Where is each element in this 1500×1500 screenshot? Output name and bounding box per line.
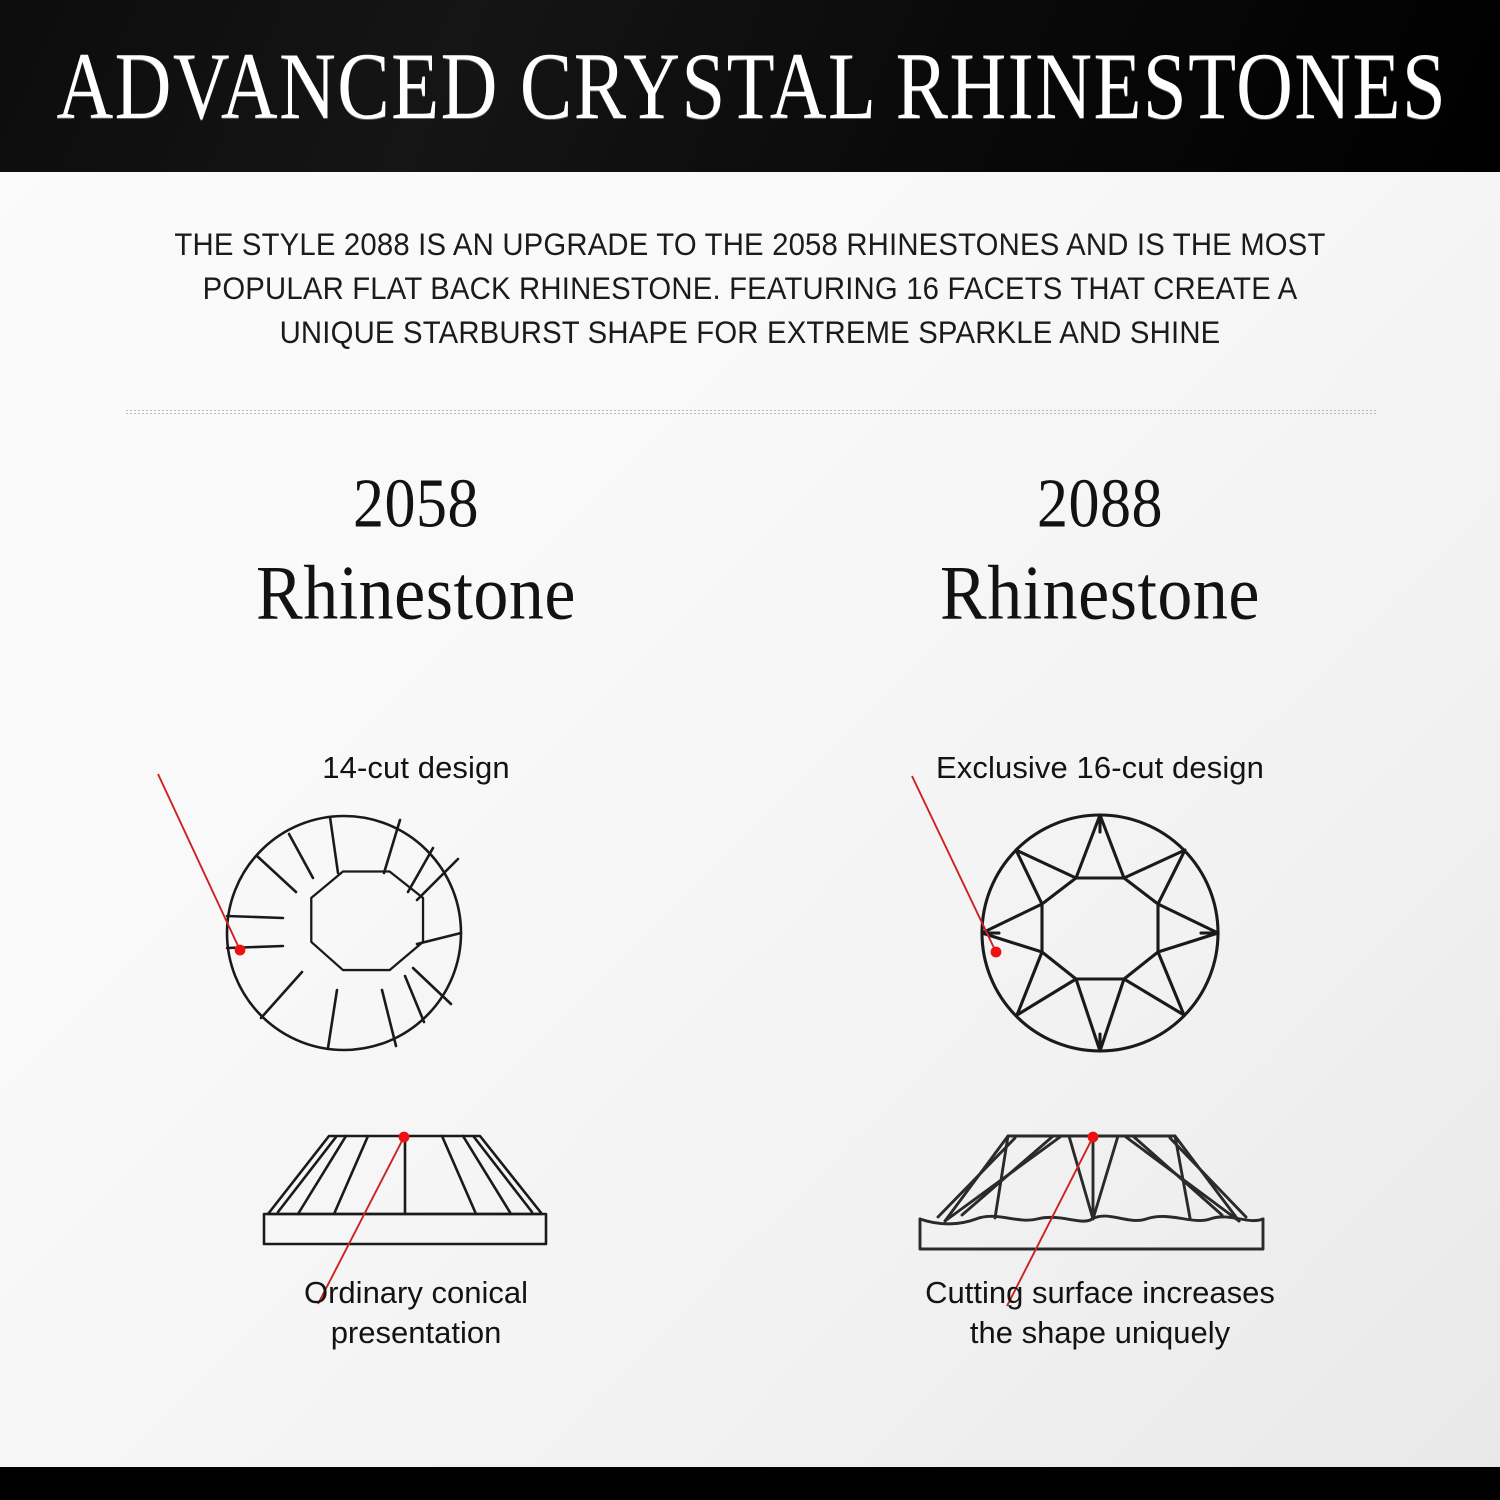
facet-line bbox=[413, 968, 451, 1004]
dotted-divider bbox=[126, 410, 1376, 415]
pointer-dot-2058 bbox=[235, 945, 246, 956]
pointer-line-2088 bbox=[912, 776, 995, 950]
infographic-page: ADVANCED CRYSTAL RHINESTONES THE STYLE 2… bbox=[0, 0, 1500, 1500]
pointer-dot-2088 bbox=[991, 947, 1002, 958]
table-octagon bbox=[311, 872, 423, 971]
star-spike bbox=[1124, 850, 1185, 904]
heading-word-2088: Rhinestone bbox=[790, 557, 1410, 632]
base-slab bbox=[264, 1214, 546, 1244]
column-2088: 2088 Rhinestone Exclusive 16-cut design bbox=[790, 478, 1410, 1408]
facet-line bbox=[330, 817, 338, 873]
bottom-caption-2088-line1: Cutting surface increases bbox=[790, 1273, 1410, 1313]
star-spike bbox=[1158, 904, 1218, 952]
star-spike bbox=[1017, 952, 1076, 1015]
pointer-dot-2058-side bbox=[399, 1132, 410, 1143]
divider-line-top bbox=[126, 410, 1376, 411]
gem-2058-top-geometry bbox=[227, 816, 461, 1050]
cut-label-2088: Exclusive 16-cut design bbox=[790, 750, 1410, 786]
pointer-dot-2088-side bbox=[1088, 1132, 1099, 1143]
gem-top-view-2058 bbox=[106, 796, 726, 1066]
bottom-caption-2088: Cutting surface increases the shape uniq… bbox=[790, 1273, 1410, 1353]
bottom-caption-2058-line1: Ordinary conical bbox=[106, 1273, 726, 1313]
facet-line bbox=[261, 972, 302, 1018]
star-spike bbox=[1016, 850, 1076, 904]
gem-top-view-2088 bbox=[790, 796, 1410, 1066]
star-spike bbox=[982, 904, 1042, 952]
star-spike bbox=[1124, 952, 1184, 1015]
bottom-caption-2058-line2: presentation bbox=[106, 1313, 726, 1353]
intro-paragraph: THE STYLE 2088 IS AN UPGRADE TO THE 2058… bbox=[164, 222, 1336, 354]
facet-line bbox=[289, 834, 313, 878]
facet-line bbox=[408, 848, 433, 892]
facet-line bbox=[227, 916, 283, 918]
bottom-caption-2058: Ordinary conical presentation bbox=[106, 1273, 726, 1353]
heading-number-2088: 2088 bbox=[790, 471, 1410, 539]
gem-side-view-2058 bbox=[106, 1118, 726, 1278]
column-2058: 2058 Rhinestone 14-cut design bbox=[106, 478, 726, 1408]
gem-2088-side-geometry bbox=[920, 1136, 1263, 1249]
base-slab bbox=[920, 1219, 1263, 1249]
bottom-black-bar bbox=[0, 1467, 1500, 1500]
divider-line-bottom bbox=[126, 413, 1376, 414]
bottom-caption-2088-line2: the shape uniquely bbox=[790, 1313, 1410, 1353]
pointer-line-2058 bbox=[158, 774, 239, 948]
facet-line bbox=[257, 856, 296, 892]
page-title: ADVANCED CRYSTAL RHINESTONES bbox=[53, 38, 1448, 134]
cut-label-2058: 14-cut design bbox=[106, 750, 726, 786]
heading-word-2058: Rhinestone bbox=[106, 557, 726, 632]
facet-line bbox=[405, 976, 424, 1022]
heading-2088: 2088 Rhinestone bbox=[790, 478, 1410, 625]
header-banner: ADVANCED CRYSTAL RHINESTONES bbox=[0, 0, 1500, 172]
heading-2058: 2058 Rhinestone bbox=[106, 478, 726, 625]
facet-line bbox=[382, 990, 396, 1046]
gem-side-view-2088 bbox=[790, 1118, 1410, 1278]
facet-line bbox=[328, 990, 337, 1048]
heading-number-2058: 2058 bbox=[106, 471, 726, 539]
facet-line bbox=[384, 820, 400, 873]
gem-2088-top-geometry bbox=[982, 815, 1218, 1051]
table-octagon bbox=[1042, 878, 1158, 979]
gem-2058-side-geometry bbox=[264, 1136, 546, 1244]
